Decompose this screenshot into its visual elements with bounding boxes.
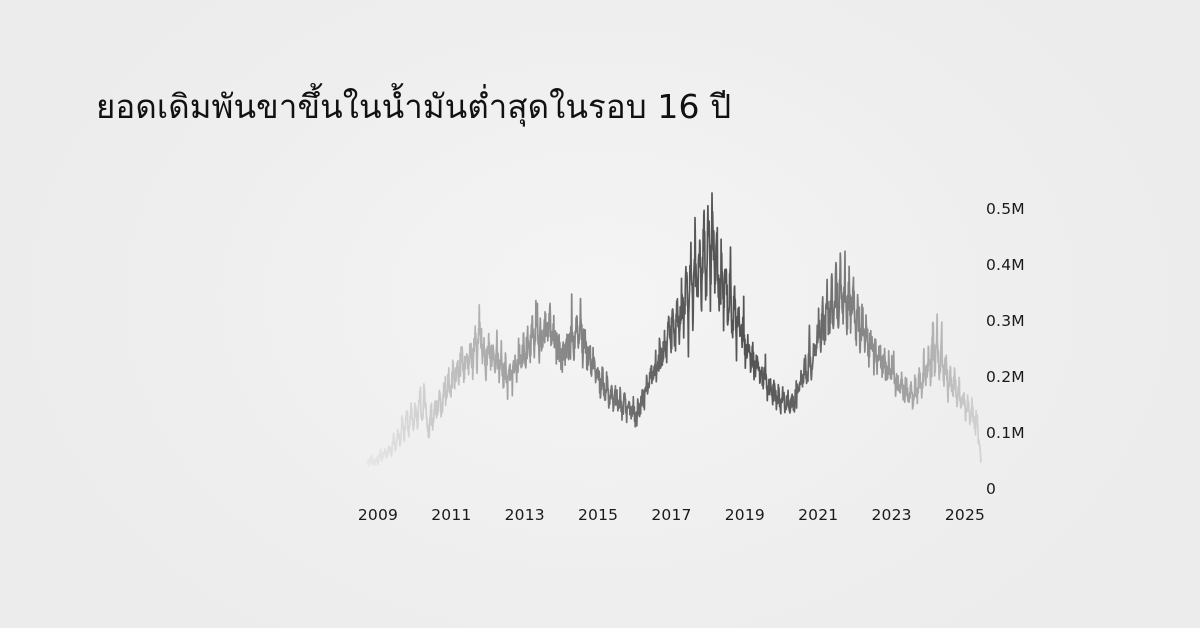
x-tick-label-1: 2011 — [431, 506, 471, 524]
x-tick-label-2: 2013 — [505, 506, 545, 524]
x-tick-label-4: 2017 — [651, 506, 691, 524]
x-tick-label-0: 2009 — [358, 506, 398, 524]
x-tick-label-6: 2021 — [798, 506, 838, 524]
x-tick-label-8: 2025 — [945, 506, 985, 524]
y-tick-label-4: 0.1M — [986, 424, 1025, 442]
series-line-net-long — [367, 193, 981, 466]
y-tick-label-3: 0.2M — [986, 368, 1025, 386]
chart-page: ยอดเดิมพันขาขึ้นในน้ำมันต่ำสุดในรอบ 16 ป… — [0, 0, 1200, 628]
x-tick-label-5: 2019 — [725, 506, 765, 524]
y-tick-label-1: 0.4M — [986, 256, 1025, 274]
x-tick-label-3: 2015 — [578, 506, 618, 524]
y-tick-label-2: 0.3M — [986, 312, 1025, 330]
y-tick-label-5: 0 — [986, 480, 996, 498]
x-tick-label-7: 2023 — [872, 506, 912, 524]
line-chart: 0.5M0.4M0.3M0.2M0.1M0 200920112013201520… — [0, 0, 1200, 628]
y-tick-label-0: 0.5M — [986, 200, 1025, 218]
